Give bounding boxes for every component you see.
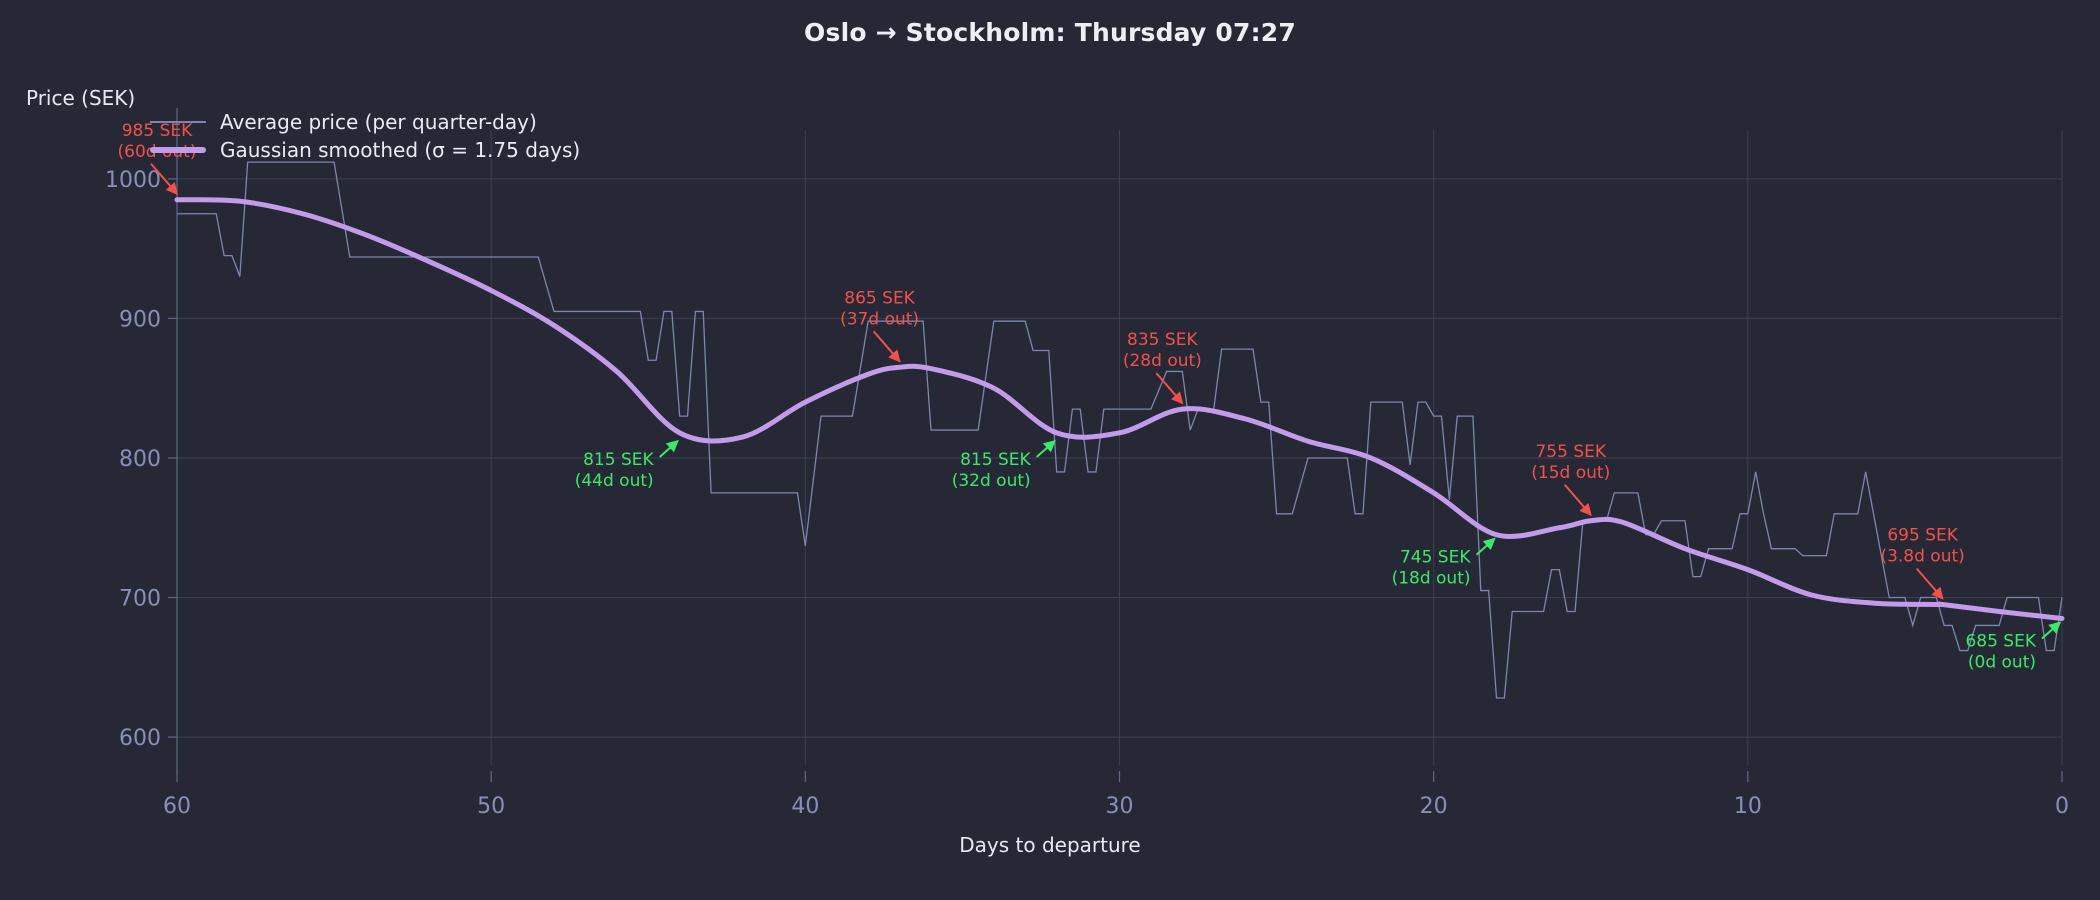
legend-swatch-line-icon	[150, 121, 206, 123]
annotation-days: (18d out)	[1392, 569, 1471, 589]
annotation-arrow-icon	[1037, 441, 1055, 457]
y-axis-tick-label: 800	[119, 447, 161, 472]
x-axis-tick-label: 10	[1734, 794, 1762, 819]
legend-label: Average price (per quarter-day)	[220, 110, 537, 134]
x-axis-tick-label: 60	[163, 794, 191, 819]
annotation-arrow-icon	[660, 441, 678, 457]
axis-layer	[168, 108, 2062, 782]
annotation-value: 695 SEK	[1887, 526, 1958, 546]
chart-canvas: Oslo → Stockholm: Thursday 07:27 Price (…	[0, 0, 2100, 900]
peak-annotation: 755 SEK(15d out)	[1531, 442, 1610, 515]
annotation-value: 865 SEK	[844, 288, 915, 308]
annotation-days: (32d out)	[952, 471, 1031, 491]
annotation-layer: 985 SEK(60d out)815 SEK(44d out)865 SEK(…	[118, 121, 2060, 673]
annotation-arrow-icon	[1917, 569, 1943, 599]
peak-annotation: 695 SEK(3.8d out)	[1880, 526, 1964, 599]
trough-annotation: 815 SEK(44d out)	[575, 441, 678, 491]
legend-swatch-line-icon	[150, 147, 206, 153]
legend-label: Gaussian smoothed (σ = 1.75 days)	[220, 138, 580, 162]
x-axis-tick-label: 30	[1106, 794, 1134, 819]
y-axis-tick-label: 600	[119, 726, 161, 751]
x-axis-tick-label: 0	[2055, 794, 2069, 819]
annotation-days: (44d out)	[575, 471, 654, 491]
grid-layer	[177, 130, 2062, 765]
y-axis-tick-label: 1000	[105, 168, 161, 193]
x-tick-layer: 6050403020100	[163, 794, 2069, 819]
annotation-days: (28d out)	[1123, 351, 1202, 371]
peak-annotation: 835 SEK(28d out)	[1123, 330, 1202, 403]
annotation-value: 835 SEK	[1127, 330, 1198, 350]
annotation-value: 685 SEK	[1965, 631, 2036, 651]
annotation-days: (3.8d out)	[1880, 547, 1964, 567]
x-axis-tick-label: 50	[477, 794, 505, 819]
annotation-value: 815 SEK	[960, 450, 1031, 470]
chart-legend: Average price (per quarter-day) Gaussian…	[150, 108, 580, 164]
annotation-days: (0d out)	[1968, 652, 2036, 672]
legend-item-average-price: Average price (per quarter-day)	[150, 108, 580, 136]
annotation-days: (15d out)	[1531, 463, 1610, 483]
x-axis-tick-label: 20	[1420, 794, 1448, 819]
annotation-value: 815 SEK	[583, 450, 654, 470]
annotation-arrow-icon	[874, 331, 900, 361]
y-axis-tick-label: 900	[119, 307, 161, 332]
annotation-days: (37d out)	[840, 309, 919, 329]
legend-item-gaussian-smoothed: Gaussian smoothed (σ = 1.75 days)	[150, 136, 580, 164]
trough-annotation: 815 SEK(32d out)	[952, 441, 1055, 491]
x-axis-tick-label: 40	[791, 794, 819, 819]
peak-annotation: 865 SEK(37d out)	[840, 288, 919, 361]
y-tick-layer: 6007008009001000	[105, 168, 161, 751]
annotation-value: 755 SEK	[1535, 442, 1606, 462]
annotation-arrow-icon	[1565, 485, 1591, 515]
annotation-value: 745 SEK	[1400, 548, 1471, 568]
y-axis-tick-label: 700	[119, 587, 161, 612]
